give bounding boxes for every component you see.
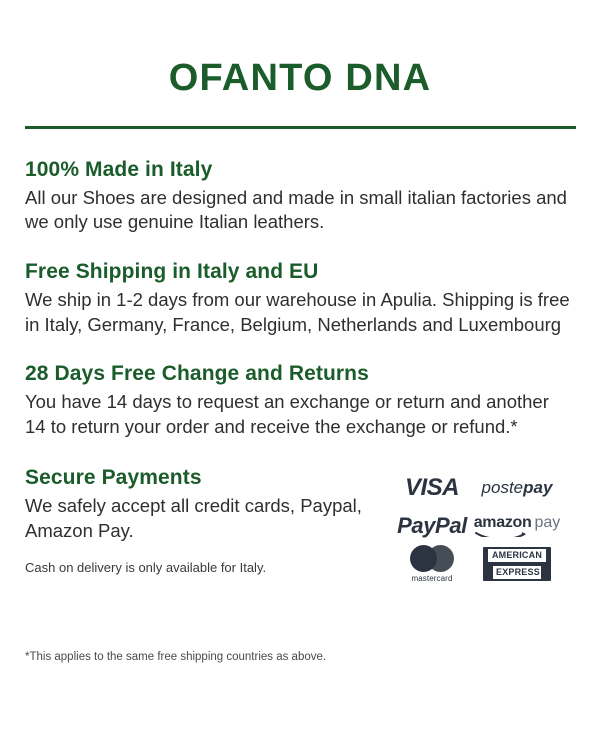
amazon-word-text: amazon — [474, 514, 532, 531]
cash-on-delivery-note: Cash on delivery is only available for I… — [25, 560, 415, 577]
postepay-light-text: poste — [482, 478, 524, 497]
content-area: 100% Made in Italy All our Shoes are des… — [0, 157, 600, 615]
payment-logo-row-1: VISA postepay — [393, 469, 563, 507]
american-express-icon: AMERICAN EXPRESS — [483, 547, 551, 581]
section-returns: 28 Days Free Change and Returns You have… — [25, 361, 575, 439]
amex-line-2: EXPRESS — [492, 565, 542, 580]
amazon-pay-text: pay — [534, 514, 560, 531]
page-title: OFANTO DNA — [0, 0, 600, 100]
section-body-returns: You have 14 days to request an exchange … — [25, 390, 573, 439]
secure-payments-text: Secure Payments We safely accept all cre… — [25, 465, 415, 577]
section-heading-secure-payments: Secure Payments — [25, 465, 415, 491]
postepay-bold-text: pay — [523, 478, 552, 497]
amex-logo-cell: AMERICAN EXPRESS — [471, 547, 563, 581]
ofanto-dna-page: OFANTO DNA 100% Made in Italy All our Sh… — [0, 0, 600, 750]
mastercard-icon: mastercard — [410, 545, 454, 583]
section-free-shipping: Free Shipping in Italy and EU We ship in… — [25, 259, 575, 337]
visa-icon: VISA — [405, 474, 459, 502]
section-heading-free-shipping: Free Shipping in Italy and EU — [25, 259, 575, 285]
postepay-icon: postepay — [482, 478, 553, 498]
section-secure-payments: Secure Payments We safely accept all cre… — [25, 465, 575, 615]
section-body-secure-payments: We safely accept all credit cards, Paypa… — [25, 494, 415, 543]
mastercard-logo-cell: mastercard — [393, 545, 471, 583]
amazon-smile-icon — [475, 530, 527, 537]
section-body-made-in-italy: All our Shoes are designed and made in s… — [25, 186, 573, 235]
section-heading-made-in-italy: 100% Made in Italy — [25, 157, 575, 183]
visa-logo-cell: VISA — [393, 474, 471, 502]
mastercard-circle-right — [427, 545, 454, 572]
postepay-logo-cell: postepay — [471, 478, 563, 498]
paypal-logo-cell: PayPal — [393, 513, 471, 539]
section-made-in-italy: 100% Made in Italy All our Shoes are des… — [25, 157, 575, 235]
mastercard-wordmark: mastercard — [411, 575, 452, 583]
amazonpay-logo-cell: amazonpay — [471, 515, 563, 537]
amazon-pay-icon: amazonpay — [474, 515, 561, 537]
payment-logo-row-2: PayPal amazonpay — [393, 507, 563, 545]
title-divider — [25, 126, 576, 129]
paypal-icon: PayPal — [397, 513, 467, 539]
footnote: *This applies to the same free shipping … — [25, 650, 326, 665]
amex-line-1: AMERICAN — [487, 548, 547, 563]
section-body-free-shipping: We ship in 1-2 days from our warehouse i… — [25, 288, 573, 337]
payment-logo-row-3: mastercard AMERICAN EXPRESS — [393, 545, 563, 583]
payment-logos: VISA postepay PayPal amazonpay — [393, 469, 563, 583]
section-heading-returns: 28 Days Free Change and Returns — [25, 361, 575, 387]
mastercard-circles — [410, 545, 454, 572]
